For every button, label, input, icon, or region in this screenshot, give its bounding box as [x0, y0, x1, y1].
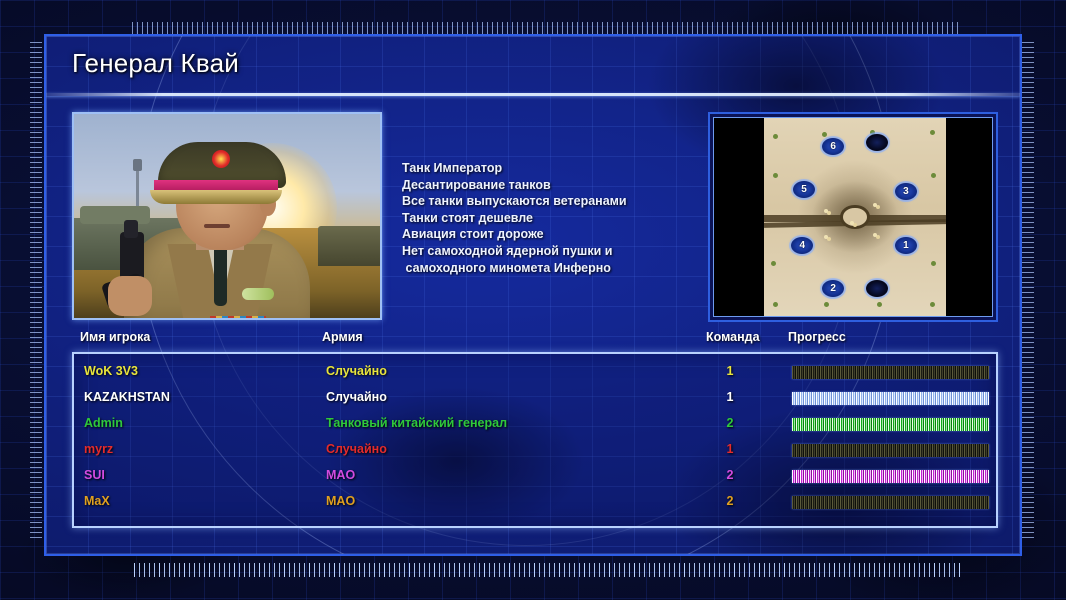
player-progress-bar [792, 496, 989, 509]
player-table-header: Имя игрока Армия Команда Прогресс [72, 330, 998, 352]
map-start-position-6[interactable]: 6 [822, 138, 844, 155]
map-preview-inner: 653412 [713, 117, 993, 317]
map-preview-frame[interactable]: 653412 [708, 112, 998, 322]
player-progress-fill [792, 418, 989, 431]
column-header-team: Команда [706, 330, 760, 344]
player-progress-fill [792, 392, 989, 405]
map-start-position-2[interactable]: 2 [822, 280, 844, 297]
column-header-army: Армия [322, 330, 363, 344]
map-start-position-4[interactable]: 4 [791, 237, 813, 254]
table-row[interactable]: MaXMAO2 [74, 492, 996, 516]
map-tree [930, 302, 935, 307]
map-tree [822, 132, 827, 137]
column-header-progress: Прогресс [788, 330, 846, 344]
map-start-position-1[interactable]: 1 [895, 237, 917, 254]
portrait-tank-right [318, 226, 382, 266]
table-row[interactable]: AdminТанковый китайский генерал2 [74, 414, 996, 438]
player-progress-bar [792, 392, 989, 405]
player-army[interactable]: MAO [326, 494, 355, 508]
map-resource [850, 221, 854, 225]
player-name: MaX [84, 494, 110, 508]
map-tree [931, 173, 936, 178]
map-tree [877, 302, 882, 307]
portrait-mouth [204, 224, 230, 228]
map-start-position-empty[interactable] [866, 280, 888, 297]
map-center-feature [840, 205, 869, 229]
portrait-general-figure [114, 136, 314, 320]
player-progress-bar [792, 444, 989, 457]
player-team[interactable]: 1 [720, 390, 740, 404]
player-progress-fill [792, 366, 989, 379]
table-row[interactable]: myrzСлучайно1 [74, 440, 996, 464]
player-progress-fill [792, 496, 989, 509]
player-name: Admin [84, 416, 123, 430]
general-info-row: Танк Император Десантирование танков Все… [72, 112, 998, 324]
map-resource [873, 203, 877, 207]
general-select-window: Генерал Квай [44, 34, 1022, 556]
ruler-bottom [134, 563, 964, 577]
player-army[interactable]: Танковый китайский генерал [326, 416, 507, 430]
player-team[interactable]: 1 [720, 364, 740, 378]
player-team[interactable]: 2 [720, 494, 740, 508]
general-description: Танк Император Десантирование танков Все… [402, 160, 702, 276]
player-name: myrz [84, 442, 113, 456]
player-name: WoK 3V3 [84, 364, 138, 378]
player-team[interactable]: 2 [720, 468, 740, 482]
player-progress-fill [792, 470, 989, 483]
ruler-left [30, 42, 42, 542]
map-tree [930, 130, 935, 135]
page-title: Генерал Квай [72, 48, 239, 79]
map-tree [773, 302, 778, 307]
map-terrain: 653412 [764, 118, 946, 316]
ruler-top [132, 22, 962, 34]
map-resource [873, 233, 877, 237]
player-name: KAZAKHSTAN [84, 390, 170, 404]
map-tree [773, 134, 778, 139]
player-army[interactable]: Случайно [326, 390, 387, 404]
map-start-position-empty[interactable] [866, 134, 888, 151]
portrait-hand [108, 276, 152, 316]
portrait-necktie [214, 244, 227, 306]
title-divider [46, 93, 1020, 96]
map-tree [771, 261, 776, 266]
map-tree [824, 302, 829, 307]
table-row[interactable]: WoK 3V3Случайно1 [74, 362, 996, 386]
map-resource [824, 235, 828, 239]
portrait-wing-badge [242, 288, 274, 300]
player-progress-bar [792, 418, 989, 431]
player-team[interactable]: 2 [720, 416, 740, 430]
general-portrait [72, 112, 382, 320]
column-header-player-name: Имя игрока [80, 330, 150, 344]
map-tree [931, 261, 936, 266]
map-resource [824, 209, 828, 213]
portrait-cap-brim [150, 190, 282, 204]
portrait-cap-emblem [212, 150, 230, 168]
portrait-ribbon-bar [210, 316, 266, 320]
player-list-panel: WoK 3V3Случайно1KAZAKHSTANСлучайно1Admin… [72, 352, 998, 528]
player-progress-bar [792, 366, 989, 379]
window-titlebar: Генерал Квай [46, 36, 1020, 94]
player-army[interactable]: Случайно [326, 364, 387, 378]
ruler-right [1022, 42, 1034, 542]
player-progress-bar [792, 470, 989, 483]
player-name: SUI [84, 468, 105, 482]
player-army[interactable]: MAO [326, 468, 355, 482]
table-row[interactable]: KAZAKHSTANСлучайно1 [74, 388, 996, 412]
map-start-position-3[interactable]: 3 [895, 183, 917, 200]
player-army[interactable]: Случайно [326, 442, 387, 456]
player-team[interactable]: 1 [720, 442, 740, 456]
map-tree [773, 173, 778, 178]
player-progress-fill [792, 444, 989, 457]
map-start-position-5[interactable]: 5 [793, 181, 815, 198]
table-row[interactable]: SUIMAO2 [74, 466, 996, 490]
